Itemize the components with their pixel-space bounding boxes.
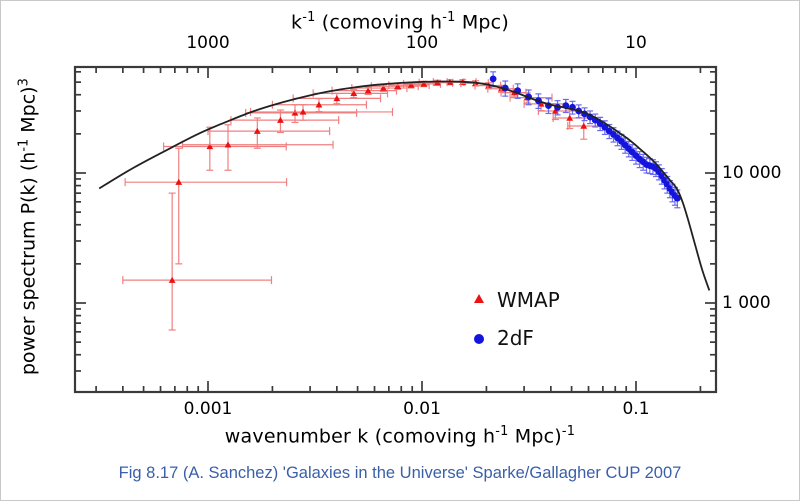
legend-wmap-triangle-icon bbox=[474, 294, 484, 303]
series-2df bbox=[490, 72, 681, 208]
plot-area bbox=[0, 0, 800, 501]
legend-2df-label: 2dF bbox=[497, 326, 534, 350]
legend-wmap-label: WMAP bbox=[497, 288, 560, 312]
legend-2df-circle-icon bbox=[474, 334, 484, 344]
plot-svg bbox=[0, 0, 800, 501]
axis-ticks bbox=[75, 67, 716, 392]
figure-root: k-1 (comoving h-1 Mpc) wavenumber k (com… bbox=[0, 0, 800, 501]
plot-frame bbox=[75, 67, 716, 392]
model-curve bbox=[99, 81, 709, 290]
figure-caption: Fig 8.17 (A. Sanchez) 'Galaxies in the U… bbox=[0, 464, 800, 483]
